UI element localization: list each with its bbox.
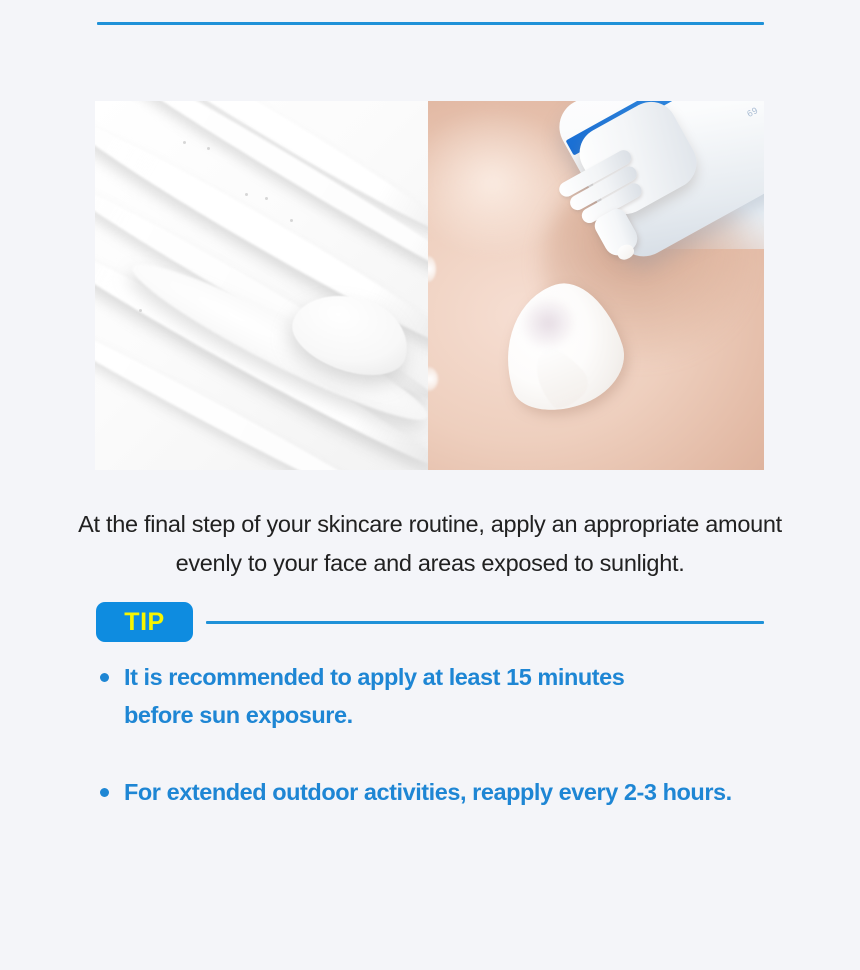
page-root: 69 At the final step of your skincare ro…	[0, 0, 860, 970]
tip-item-line-1: For extended outdoor activities, reapply…	[124, 773, 796, 811]
tip-list-item: It is recommended to apply at least 15 m…	[96, 658, 796, 734]
tip-item-line-2: before sun exposure.	[124, 696, 796, 734]
image-gallery: 69	[95, 101, 764, 470]
tip-list: It is recommended to apply at least 15 m…	[96, 658, 796, 811]
cream-speck	[139, 309, 142, 312]
tip-list-item: For extended outdoor activities, reapply…	[96, 773, 796, 811]
cream-drop-tail	[520, 339, 594, 414]
cream-speck	[290, 219, 293, 222]
cream-speck	[183, 141, 186, 144]
cream-texture-photo	[95, 101, 428, 470]
application-on-skin-photo: 69	[428, 101, 764, 470]
tip-badge: TIP	[96, 602, 193, 642]
cream-speck	[207, 147, 210, 150]
cream-speck	[245, 193, 248, 196]
bullet-dot-icon	[100, 788, 109, 797]
tip-header: TIP	[96, 602, 764, 642]
bullet-dot-icon	[100, 673, 109, 682]
caption-line-2: evenly to your face and areas exposed to…	[40, 544, 820, 583]
top-divider-rule	[97, 22, 764, 25]
tip-item-line-1: It is recommended to apply at least 15 m…	[124, 658, 796, 696]
tip-divider-rule	[206, 621, 764, 624]
cream-speck	[265, 197, 268, 200]
usage-caption: At the final step of your skincare routi…	[40, 505, 820, 583]
caption-line-1: At the final step of your skincare routi…	[40, 505, 820, 544]
